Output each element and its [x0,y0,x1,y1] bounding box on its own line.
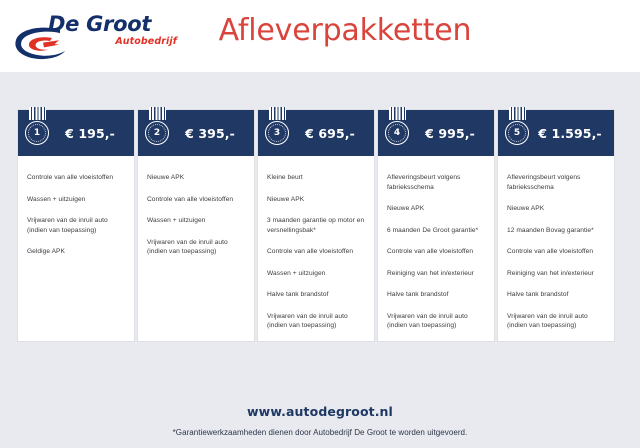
medal-disc-icon: 2 [145,121,169,145]
package-feature: Wassen + uitzuigen [147,216,245,226]
medal-icon: 2 [142,111,172,155]
page-header: De Groot Autobedrijf Afleverpakketten [0,0,640,72]
package-feature-list: Afleveringsbeurt volgens fabrieksschema … [498,156,614,341]
medal-disc-icon: 1 [25,121,49,145]
package-cards: 1 € 195,- Controle van alle vloeistoffen… [18,110,622,341]
package-card-header: 4 € 995,- [378,110,494,156]
medal-icon: 5 [502,111,532,155]
package-card-header: 3 € 695,- [258,110,374,156]
package-feature: Controle van alle vloeistoffen [27,173,125,183]
package-price: € 195,- [52,126,134,141]
package-feature: Nieuwe APK [267,195,365,205]
medal-icon: 3 [262,111,292,155]
warranty-disclaimer: *Garantiewerkzaamheden dienen door Autob… [0,428,640,437]
medal-disc-icon: 5 [505,121,529,145]
package-feature-list: Nieuwe APK Controle van alle vloeistoffe… [138,156,254,341]
package-number: 4 [394,129,400,138]
package-feature-list: Afleveringsbeurt volgens fabrieksschema … [378,156,494,341]
website-url[interactable]: www.autodegroot.nl [0,404,640,419]
package-feature: Reiniging van het in/exterieur [387,269,485,279]
package-feature: Nieuwe APK [147,173,245,183]
package-price: € 995,- [412,126,494,141]
package-feature: Controle van alle vloeistoffen [267,247,365,257]
package-feature: Halve tank brandstof [507,290,605,300]
package-card-header: 5 € 1.595,- [498,110,614,156]
package-card[interactable]: 3 € 695,- Kleine beurt Nieuwe APK 3 maan… [258,110,374,341]
package-feature: Wassen + uitzuigen [267,269,365,279]
medal-icon: 1 [22,111,52,155]
afleverpakketten-page: De Groot Autobedrijf Afleverpakketten 1 … [0,0,640,448]
package-feature: Vrijwaren van de inruil auto (indien van… [507,312,605,331]
package-number: 5 [514,129,520,138]
package-price: € 395,- [172,126,254,141]
package-card-header: 1 € 195,- [18,110,134,156]
package-feature: Nieuwe APK [387,204,485,214]
medal-disc-icon: 4 [385,121,409,145]
page-footer: www.autodegroot.nl *Garantiewerkzaamhede… [0,404,640,437]
package-feature: Vrijwaren van de inruil auto (indien van… [147,238,245,257]
package-number: 2 [154,129,160,138]
package-feature: Vrijwaren van de inruil auto (indien van… [267,312,365,331]
package-feature: Halve tank brandstof [267,290,365,300]
package-feature: 12 maanden Bovag garantie* [507,226,605,236]
package-feature: Geldige APK [27,247,125,257]
package-feature: 6 maanden De Groot garantie* [387,226,485,236]
package-number: 3 [274,129,280,138]
medal-ribbon-icon [29,107,46,120]
page-title: Afleverpakketten [0,13,640,48]
medal-ribbon-icon [389,107,406,120]
package-card[interactable]: 1 € 195,- Controle van alle vloeistoffen… [18,110,134,341]
medal-disc-icon: 3 [265,121,289,145]
package-card[interactable]: 4 € 995,- Afleveringsbeurt volgens fabri… [378,110,494,341]
package-price: € 695,- [292,126,374,141]
package-feature: Controle van alle vloeistoffen [147,195,245,205]
package-feature-list: Controle van alle vloeistoffen Wassen + … [18,156,134,341]
package-card[interactable]: 5 € 1.595,- Afleveringsbeurt volgens fab… [498,110,614,341]
medal-ribbon-icon [269,107,286,120]
package-feature: Controle van alle vloeistoffen [387,247,485,257]
package-feature: 3 maanden garantie op motor en versnelli… [267,216,365,235]
package-feature: Vrijwaren van de inruil auto (indien van… [27,216,125,235]
package-card[interactable]: 2 € 395,- Nieuwe APK Controle van alle v… [138,110,254,341]
package-feature: Afleveringsbeurt volgens fabrieksschema [387,173,485,192]
package-feature: Controle van alle vloeistoffen [507,247,605,257]
package-feature: Afleveringsbeurt volgens fabrieksschema [507,173,605,192]
medal-icon: 4 [382,111,412,155]
package-feature: Halve tank brandstof [387,290,485,300]
medal-ribbon-icon [509,107,526,120]
package-card-header: 2 € 395,- [138,110,254,156]
package-price: € 1.595,- [532,126,614,141]
package-number: 1 [34,129,40,138]
package-feature-list: Kleine beurt Nieuwe APK 3 maanden garant… [258,156,374,341]
package-feature: Kleine beurt [267,173,365,183]
package-feature: Nieuwe APK [507,204,605,214]
package-feature: Reiniging van het in/exterieur [507,269,605,279]
package-feature: Wassen + uitzuigen [27,195,125,205]
package-feature: Vrijwaren van de inruil auto (indien van… [387,312,485,331]
medal-ribbon-icon [149,107,166,120]
